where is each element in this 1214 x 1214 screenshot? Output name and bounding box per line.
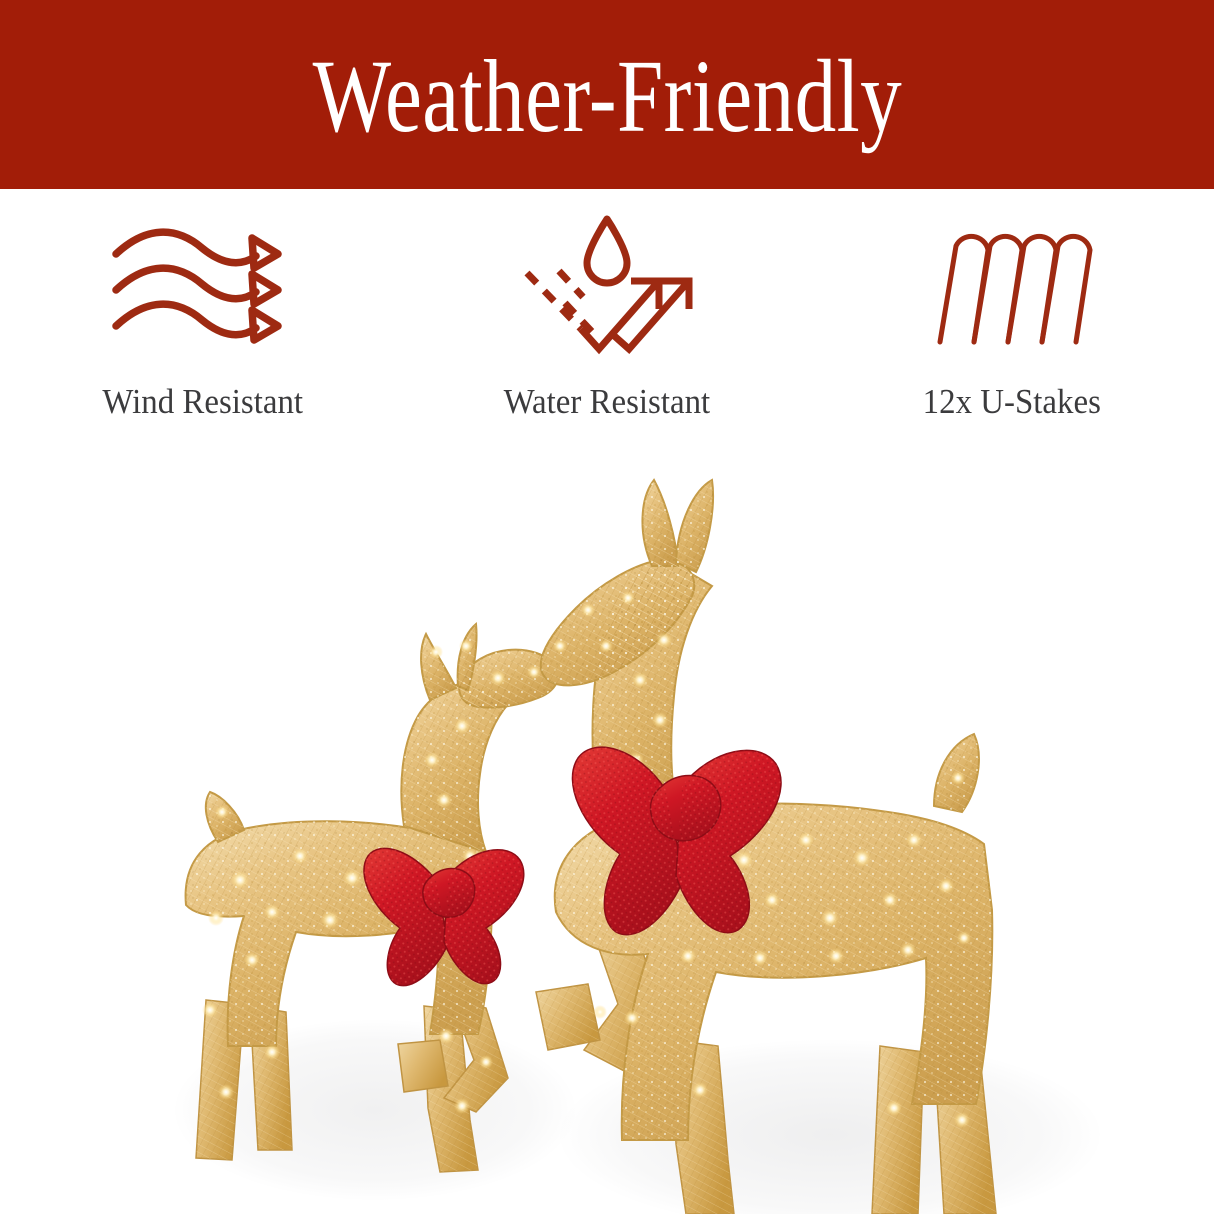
small-deer [186,624,558,1172]
product-feature-graphic: Weather-Friendly Wind Resistant [0,0,1214,1214]
large-deer [536,480,996,1214]
